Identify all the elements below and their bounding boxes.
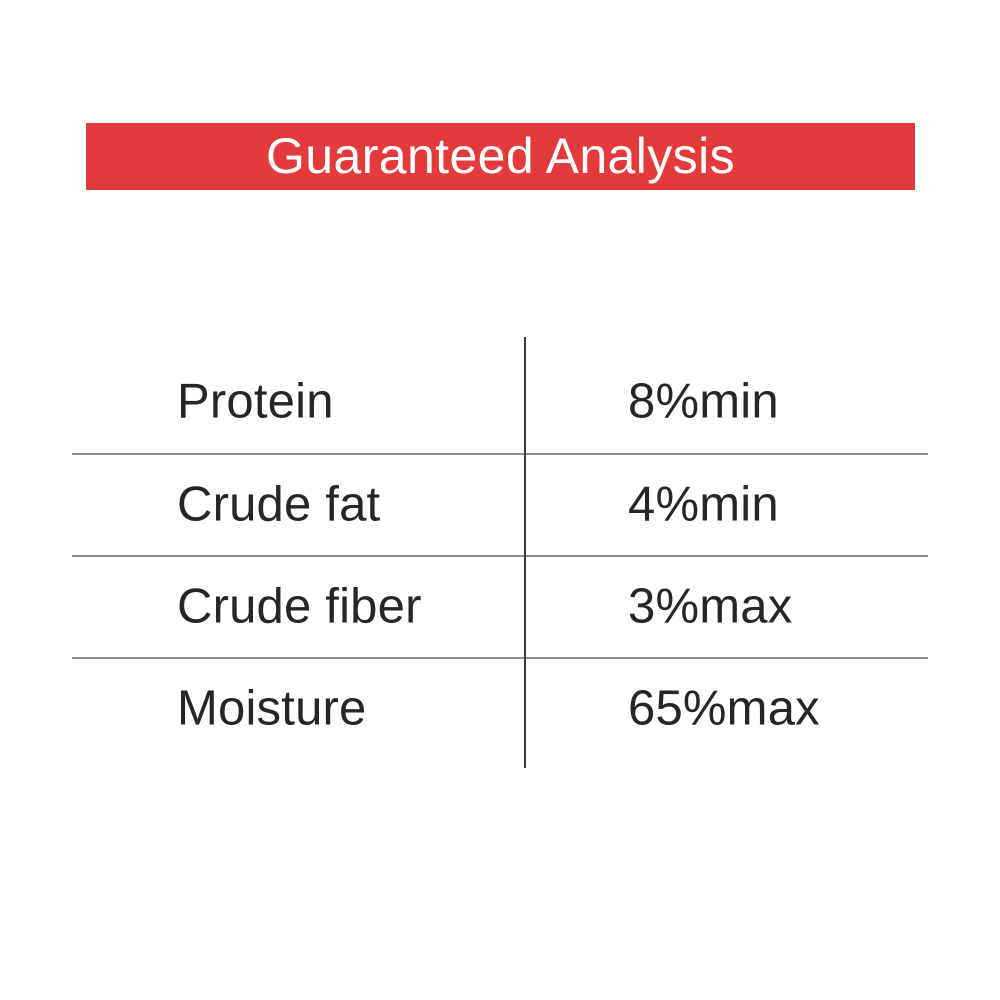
nutrient-label: Crude fat — [177, 481, 380, 530]
nutrient-label: Moisture — [177, 685, 367, 734]
page-title: Guaranteed Analysis — [266, 131, 735, 181]
nutrient-label: Protein — [177, 378, 334, 427]
table-row: Protein 8%min — [72, 351, 928, 453]
nutrient-value: 65%max — [628, 685, 820, 734]
nutrient-value: 8%min — [628, 378, 779, 427]
table-row: Crude fiber 3%max — [72, 555, 928, 657]
nutrient-value: 3%max — [628, 583, 792, 632]
guaranteed-analysis-table: Protein 8%min Crude fat 4%min Crude fibe… — [72, 351, 928, 759]
table-row: Crude fat 4%min — [72, 453, 928, 555]
guaranteed-analysis-page: Guaranteed Analysis Protein 8%min Crude … — [0, 0, 1000, 1000]
guaranteed-analysis-banner: Guaranteed Analysis — [86, 123, 915, 190]
table-row: Moisture 65%max — [72, 657, 928, 759]
column-divider — [524, 337, 526, 768]
nutrient-value: 4%min — [628, 481, 779, 530]
nutrient-label: Crude fiber — [177, 583, 422, 632]
